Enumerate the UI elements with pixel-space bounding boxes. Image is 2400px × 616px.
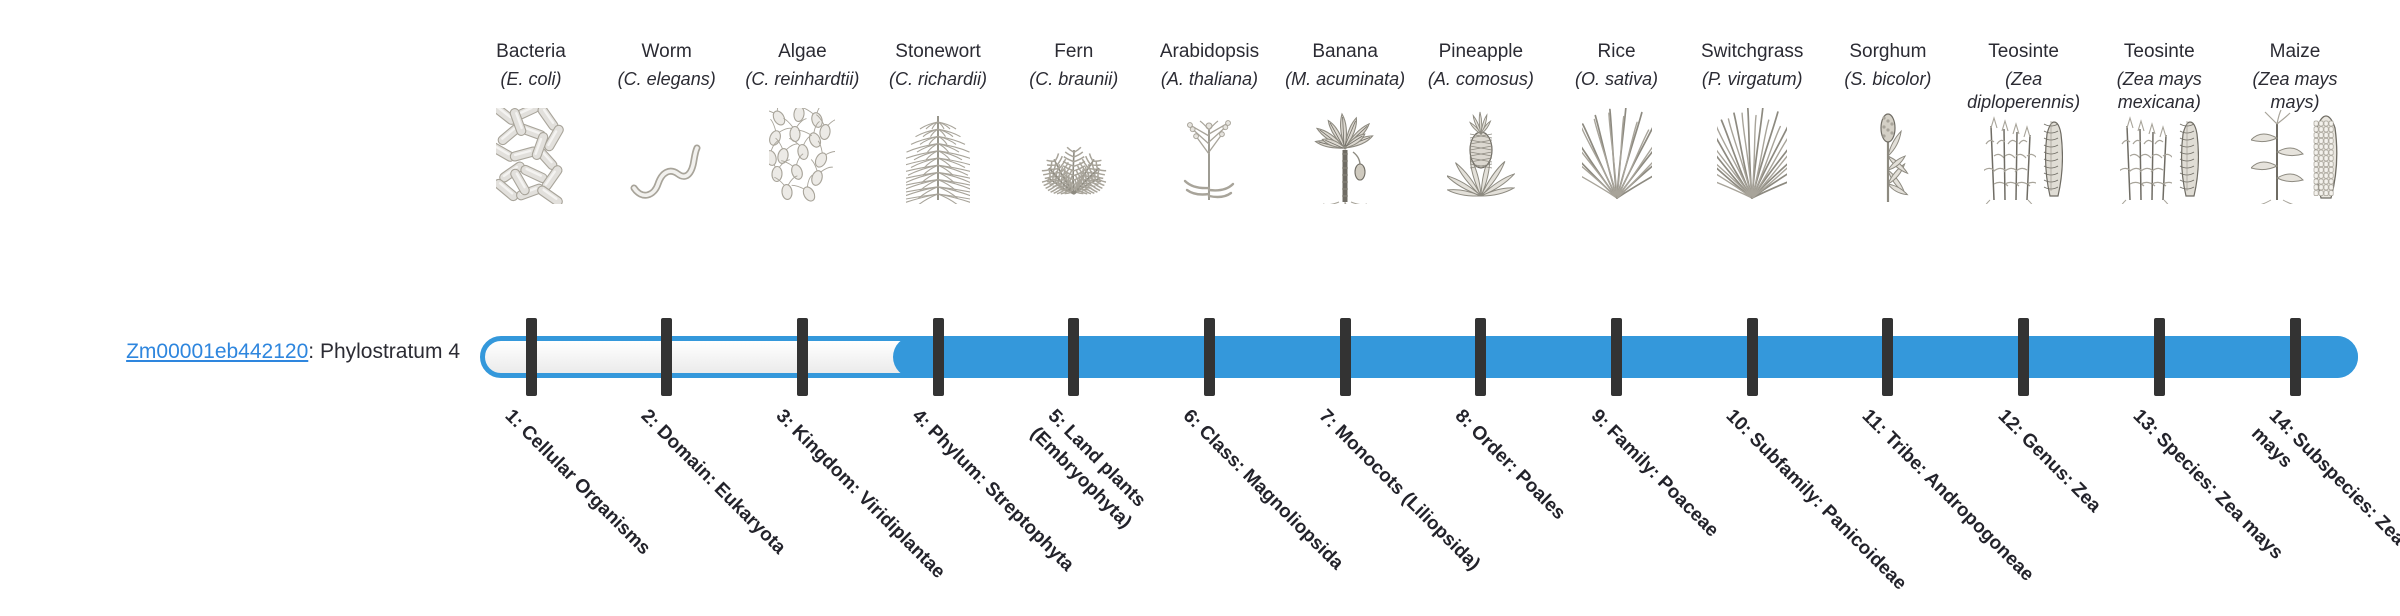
species-common-name: Stonewort bbox=[871, 40, 1006, 64]
species-common-name: Pineapple bbox=[1413, 40, 1548, 64]
phylostratum-progress-bar[interactable] bbox=[480, 336, 2358, 378]
rice-icon bbox=[1549, 112, 1684, 204]
species-scientific-name: (S. bicolor) bbox=[1824, 68, 1951, 91]
species-scientific-name: (C. reinhardtii) bbox=[739, 68, 866, 91]
rank-number: 13: bbox=[2129, 405, 2163, 439]
species-common-name: Banana bbox=[1278, 40, 1413, 64]
sorghum-icon bbox=[1820, 112, 1955, 204]
species-scientific-name: (A. comosus) bbox=[1417, 68, 1544, 91]
phylostratum-tick-8 bbox=[1475, 318, 1486, 396]
phylostratum-tick-5 bbox=[1068, 318, 1079, 396]
banana-icon bbox=[1278, 112, 1413, 204]
species-scientific-name: (P. virgatum) bbox=[1689, 68, 1816, 91]
rank-text: Subfamily: Panicoideae bbox=[1745, 429, 1911, 595]
arabidopsis-icon bbox=[1142, 112, 1277, 204]
species-scientific-name: (E. coli) bbox=[468, 68, 595, 91]
species-scientific-name: (M. acuminata) bbox=[1282, 68, 1409, 91]
phylostratum-rank-label-14: 14: Subspecies: Zea mays mays bbox=[2246, 404, 2400, 616]
species-common-name: Sorghum bbox=[1820, 40, 1955, 64]
phylostratum-tick-1 bbox=[526, 318, 537, 396]
rank-text: Monocots (Liliopsida) bbox=[1331, 421, 1485, 575]
rank-text: Tribe: Andropogoneae bbox=[1880, 428, 2038, 586]
species-scientific-name: (C. elegans) bbox=[603, 68, 730, 91]
rank-number: 11: bbox=[1858, 405, 1892, 439]
algae-icon bbox=[735, 112, 870, 204]
phylostratum-tick-6 bbox=[1204, 318, 1215, 396]
phylostratum-tick-9 bbox=[1611, 318, 1622, 396]
stonewort-icon bbox=[871, 112, 1006, 204]
species-common-name: Teosinte bbox=[1956, 40, 2091, 64]
species-scientific-name: (O. sativa) bbox=[1553, 68, 1680, 91]
pineapple-icon bbox=[1413, 112, 1548, 204]
rank-text: Kingdom: Viridiplantae bbox=[788, 421, 950, 583]
rank-text: Order: Poales bbox=[1466, 421, 1569, 524]
species-common-name: Algae bbox=[735, 40, 870, 64]
species-common-name: Teosinte bbox=[2092, 40, 2227, 64]
worm-icon bbox=[599, 112, 734, 204]
phylostratum-tick-13 bbox=[2154, 318, 2165, 396]
phylostratum-tick-4 bbox=[933, 318, 944, 396]
bacteria-icon bbox=[464, 112, 599, 204]
teosinte-icon bbox=[1956, 112, 2091, 204]
species-common-name: Maize bbox=[2228, 40, 2363, 64]
phylostratum-tick-7 bbox=[1340, 318, 1351, 396]
rank-text: Genus: Zea bbox=[2017, 429, 2105, 517]
rank-text: Class: Magnoliopsida bbox=[1195, 421, 1348, 574]
phylostratum-tick-11 bbox=[1882, 318, 1893, 396]
progress-fill bbox=[893, 336, 2358, 378]
rank-text: Domain: Eukaryota bbox=[652, 421, 789, 558]
phylostratum-tick-2 bbox=[661, 318, 672, 396]
species-scientific-name: (C. richardii) bbox=[875, 68, 1002, 91]
rank-text: Land plants (Embryophyta) bbox=[1026, 421, 1150, 533]
species-common-name: Rice bbox=[1549, 40, 1684, 64]
phylostratum-tick-10 bbox=[1747, 318, 1758, 396]
species-common-name: Worm bbox=[599, 40, 734, 64]
phylostratum-chart: Bacteria(E. coli)1: Cellular OrganismsWo… bbox=[0, 0, 2400, 580]
phylostratum-tick-12 bbox=[2018, 318, 2029, 396]
rank-text: Family: Poaceae bbox=[1602, 421, 1722, 541]
switchgrass-icon bbox=[1685, 112, 1820, 204]
fern-icon bbox=[1006, 112, 1141, 204]
species-common-name: Bacteria bbox=[464, 40, 599, 64]
species-common-name: Switchgrass bbox=[1685, 40, 1820, 64]
rank-number: 10: bbox=[1722, 405, 1756, 439]
teosinte-icon bbox=[2092, 112, 2227, 204]
maize-icon bbox=[2228, 112, 2363, 204]
species-common-name: Arabidopsis bbox=[1142, 40, 1277, 64]
phylostratum-tick-3 bbox=[797, 318, 808, 396]
rank-text: Cellular Organisms bbox=[516, 421, 654, 559]
species-scientific-name: (A. thaliana) bbox=[1146, 68, 1273, 91]
rank-number: 12: bbox=[1993, 405, 2027, 439]
species-scientific-name: (C. braunii) bbox=[1010, 68, 1137, 91]
species-common-name: Fern bbox=[1006, 40, 1141, 64]
phylostratum-tick-14 bbox=[2290, 318, 2301, 396]
